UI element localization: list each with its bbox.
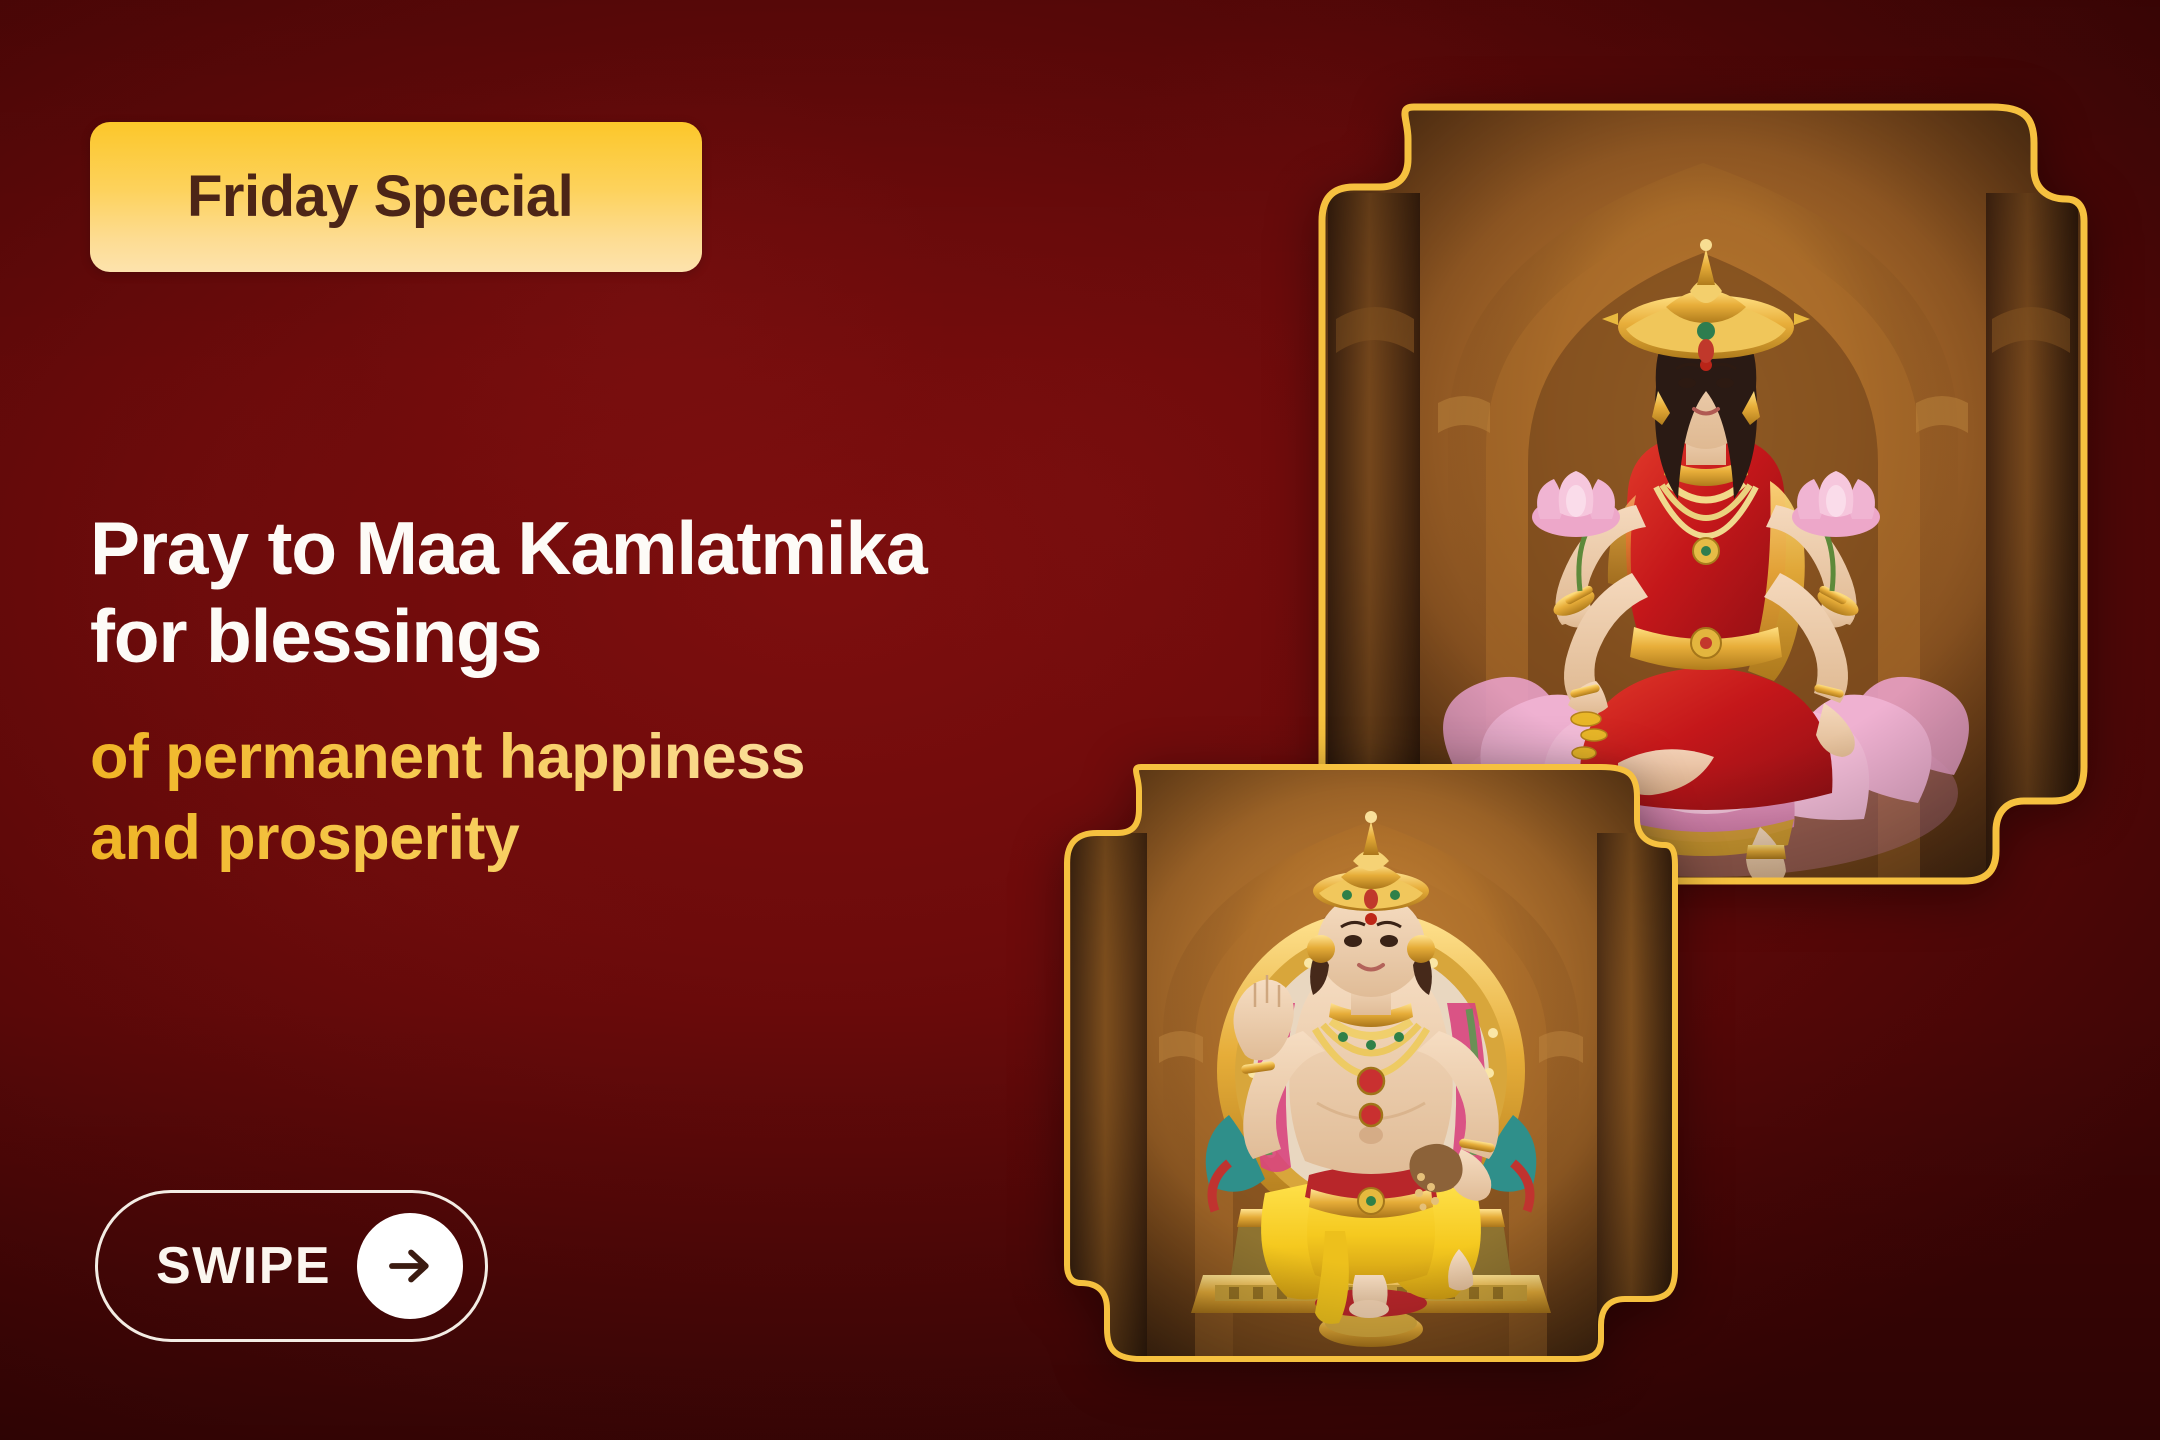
badge-label: Friday Special (90, 168, 573, 226)
promo-poster: Friday Special Pray to Maa Kamlatmika fo… (0, 0, 2160, 1440)
swipe-label: SWIPE (156, 1240, 331, 1292)
swipe-button[interactable]: SWIPE (95, 1190, 488, 1342)
subheadline-line-2: and prosperity (90, 798, 1150, 880)
arrow-right-icon[interactable] (357, 1213, 463, 1319)
headline-line-1: Pray to Maa Kamlatmika (90, 505, 1150, 593)
friday-special-badge[interactable]: Friday Special (90, 122, 702, 272)
headline-line-2: for blessings (90, 593, 1150, 681)
copy-block: Pray to Maa Kamlatmika for blessings of … (90, 505, 1150, 880)
card-frame-ogee (1063, 763, 1679, 1363)
subheadline-line-1: of permanent happiness (90, 717, 1150, 799)
lord-kubera-image[interactable] (1063, 763, 1679, 1363)
subheadline-block: of permanent happiness and prosperity (90, 717, 1150, 881)
